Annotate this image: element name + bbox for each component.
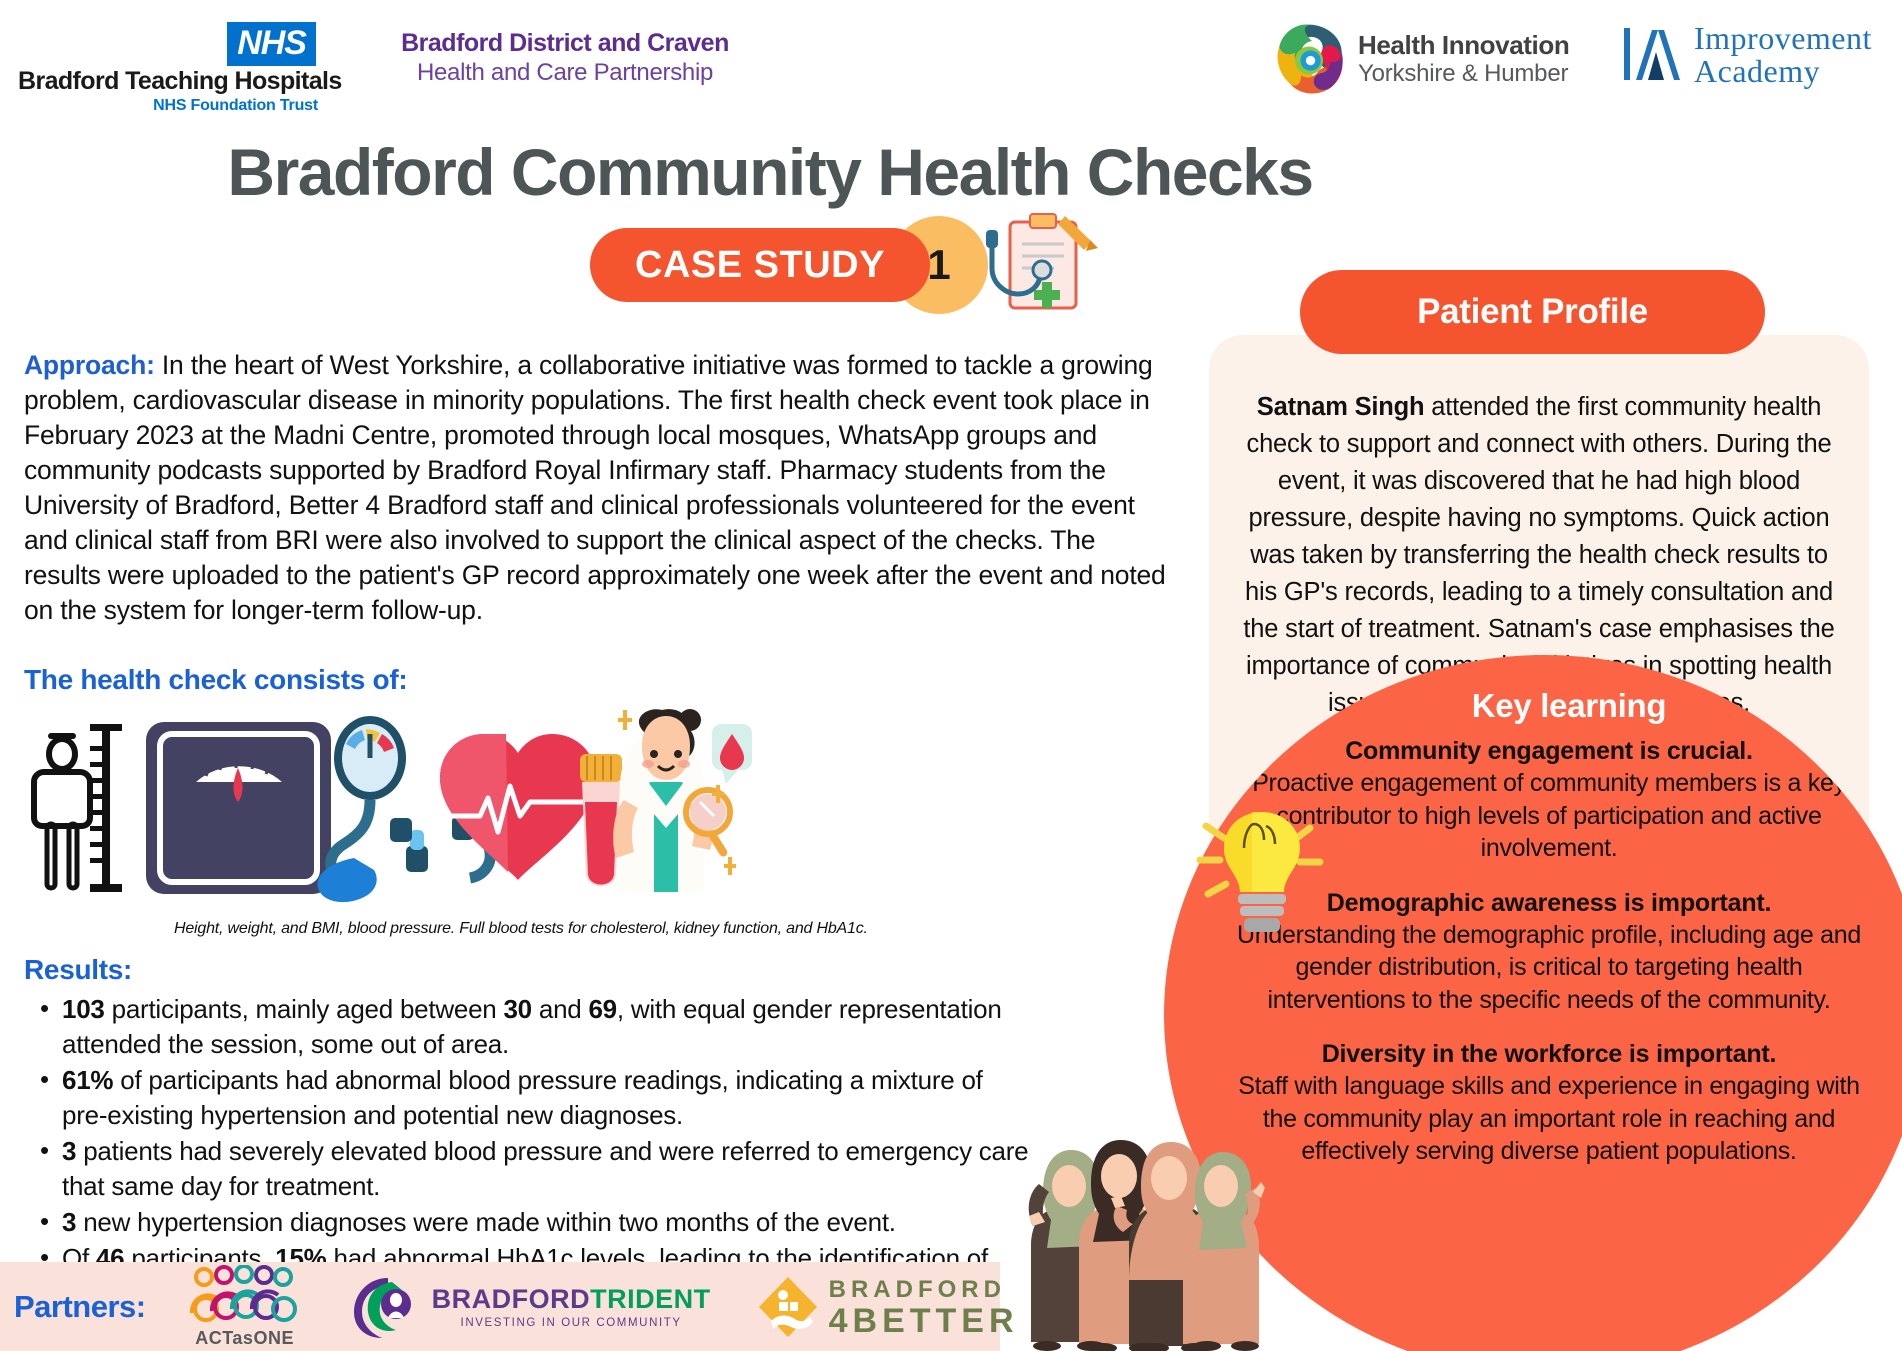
approach-text: In the heart of West Yorkshire, a collab… (24, 350, 1166, 625)
nhs-logo-line2: NHS Foundation Trust (18, 96, 318, 116)
b4b-line2: 4BETTER (829, 1304, 1019, 1338)
patient-profile-banner: Patient Profile (1300, 270, 1765, 354)
key-learning-body: Staff with language skills and experienc… (1224, 1070, 1874, 1168)
partner-logo-bradford-4better: BRADFORD 4BETTER (757, 1275, 1019, 1339)
actasone-wordmark: ACTasONE (195, 1328, 294, 1349)
partners-label: Partners: (14, 1289, 146, 1325)
heart-ecg-icon (440, 734, 596, 880)
health-innovation-logo: Health Innovation Yorkshire & Humber (1270, 20, 1569, 98)
partner-logo-bradford-trident: BRADFORDTRIDENT INVESTING IN OUR COMMUNI… (352, 1274, 711, 1340)
poster-page: NHS Bradford Teaching Hospitals NHS Foun… (0, 0, 1902, 1351)
weight-scale-icon (146, 722, 331, 894)
improvement-academy-mark-icon (1618, 22, 1684, 84)
approach-paragraph: Approach: In the heart of West Yorkshire… (24, 348, 1169, 628)
result-bold-1: 103 (62, 994, 105, 1024)
list-item: 3 new hypertension diagnoses were made w… (24, 1205, 1034, 1240)
patient-profile-banner-label: Patient Profile (1417, 292, 1648, 332)
result-mid-1: participants, mainly aged between (105, 994, 504, 1024)
partner-logo-actasone: ACTasONE (190, 1265, 300, 1349)
bradford-district-craven-logo: Bradford District and Craven Health and … (400, 28, 730, 88)
nhs-badge-icon: NHS (227, 22, 316, 66)
bdc-logo-line2: Health and Care Partnership (400, 58, 730, 88)
hi-logo-line2: Yorkshire & Humber (1358, 60, 1569, 88)
b4b-line1: BRADFORD (829, 1276, 1019, 1304)
lightbulb-icon (1192, 796, 1342, 946)
bradford4better-diamond-icon (757, 1275, 819, 1339)
trident-word1: BRADFORD (432, 1284, 591, 1314)
health-check-illustration (24, 706, 754, 911)
trident-swirl-icon (352, 1274, 424, 1340)
clipboard-stethoscope-icon (980, 208, 1110, 318)
key-learning-title: Key learning (1264, 687, 1874, 725)
health-innovation-swirl-icon (1270, 20, 1348, 98)
result-bold-1: 3 (62, 1136, 76, 1166)
ia-logo-line2: Academy (1694, 55, 1872, 88)
bdc-logo-line1: Bradford District and Craven (400, 28, 730, 58)
key-learning-head: Diversity in the workforce is important. (1224, 1038, 1874, 1070)
list-item: 3 patients had severely elevated blood p… (24, 1134, 1034, 1204)
result-bold-1: 3 (62, 1207, 76, 1237)
blood-drop-icon (712, 724, 752, 784)
community-women-illustration (1003, 1130, 1288, 1351)
list-item: 61% of participants had abnormal blood p… (24, 1063, 1034, 1133)
health-innovation-wordmark: Health Innovation Yorkshire & Humber (1358, 30, 1569, 88)
patient-name: Satnam Singh (1257, 393, 1425, 421)
height-ruler-icon (34, 724, 122, 892)
approach-colon: : (146, 350, 155, 380)
key-learning-head: Community engagement is crucial. (1224, 735, 1874, 767)
case-study-number: 1 (927, 241, 950, 289)
result-mid-2: and (532, 994, 589, 1024)
list-item: 103 participants, mainly aged between 30… (24, 992, 1034, 1062)
trident-tagline: INVESTING IN OUR COMMUNITY (432, 1317, 711, 1329)
ia-logo-line1: Improvement (1694, 22, 1872, 55)
actasone-people-icon (190, 1265, 300, 1327)
result-mid-1: patients had severely elevated blood pre… (62, 1136, 1028, 1201)
result-mid-1: of participants had abnormal blood press… (62, 1065, 983, 1130)
health-check-caption: Height, weight, and BMI, blood pressure.… (174, 920, 1184, 938)
improvement-academy-logo: Improvement Academy (1618, 22, 1872, 88)
nhs-logo-line1: Bradford Teaching Hospitals (18, 66, 318, 96)
case-study-badge: CASE STUDY (590, 228, 930, 302)
page-title: Bradford Community Health Checks (0, 134, 1540, 210)
result-bold-3: 69 (588, 994, 616, 1024)
improvement-academy-wordmark: Improvement Academy (1694, 22, 1872, 88)
case-study-badge-label: CASE STUDY (635, 244, 885, 287)
result-mid-1: new hypertension diagnoses were made wit… (76, 1207, 896, 1237)
header-logo-bar: NHS Bradford Teaching Hospitals NHS Foun… (0, 0, 1902, 108)
results-heading: Results: (24, 954, 1184, 986)
key-learning-item: Diversity in the workforce is important.… (1224, 1038, 1874, 1168)
health-check-heading: The health check consists of: (24, 664, 1184, 696)
trident-word2: TRIDENT (590, 1284, 711, 1314)
partners-footer: Partners: ACTasONE (0, 1262, 1000, 1351)
result-bold-2: 30 (503, 994, 531, 1024)
approach-label: Approach (24, 350, 146, 380)
nhs-bradford-teaching-hospitals-logo: NHS Bradford Teaching Hospitals NHS Foun… (18, 22, 318, 116)
hi-logo-line1: Health Innovation (1358, 30, 1569, 60)
result-bold-1: 61% (62, 1065, 113, 1095)
